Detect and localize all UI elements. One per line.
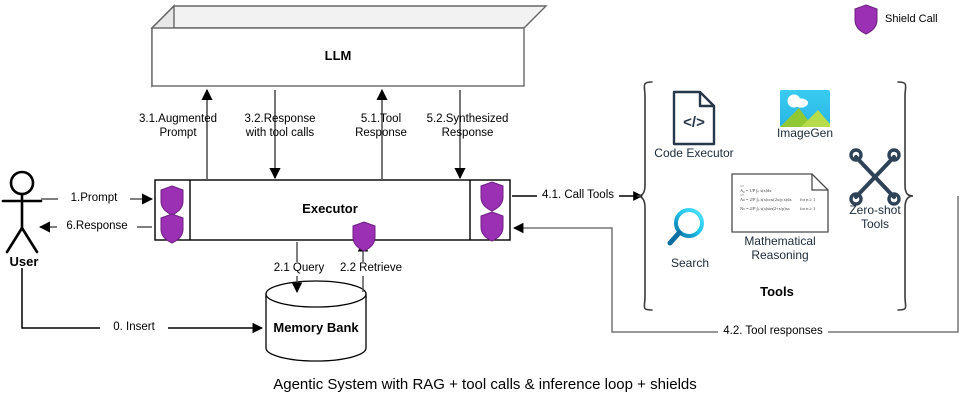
crossed-wrenches-icon: [851, 150, 899, 204]
user-leg-left: [7, 228, 22, 252]
diagram-caption: Agentic System with RAG + tool calls & i…: [0, 376, 970, 393]
tool-label-imagegen: ImageGen: [765, 126, 845, 140]
llm-box-top-face: [152, 6, 546, 28]
tool-label-zero-shot-tools: Zero-shot Tools: [840, 203, 910, 231]
magnifier-icon: [670, 210, 702, 243]
memory-bank-top-ellipse: [266, 281, 366, 307]
svg-text:</>: </>: [683, 114, 705, 131]
tool-label-search: Search: [659, 256, 721, 270]
edge-insert: [22, 268, 262, 328]
user-leg-right: [22, 228, 37, 252]
tools-group-label: Tools: [722, 284, 832, 299]
tools-left-brace: [637, 82, 652, 310]
shield-icon-legend: [855, 5, 877, 34]
math-document-icon: A₀ = 1/P ∫ₚ s(x)dx Aₙ = 2/P ∫ₚ s(x)cos(2…: [732, 174, 828, 232]
shield-icon-executor-bottom: [353, 222, 375, 251]
svg-text:for n ≥ 1: for n ≥ 1: [800, 197, 815, 202]
image-icon: [780, 90, 830, 127]
tool-label-mathematical-reasoning: Mathematical Reasoning: [730, 234, 830, 262]
legend-shield-label: Shield Call: [885, 13, 938, 25]
user-stick-figure: [3, 172, 41, 252]
diagram-canvas: </> A₀ = 1/P ∫ₚ s(x)dx Aₙ = 2/P ∫ₚ s(x)c…: [0, 0, 970, 411]
svg-text:for n ≥ 1: for n ≥ 1: [800, 206, 815, 211]
llm-box: [152, 6, 546, 86]
executor-label: Executor: [190, 201, 470, 216]
code-document-icon: </>: [674, 92, 714, 144]
user-head: [11, 172, 33, 194]
memory-bank-label: Memory Bank: [266, 320, 366, 335]
llm-label: LLM: [152, 48, 524, 63]
tool-label-code-executor: Code Executor: [648, 146, 740, 160]
tools-right-brace: [898, 82, 913, 310]
